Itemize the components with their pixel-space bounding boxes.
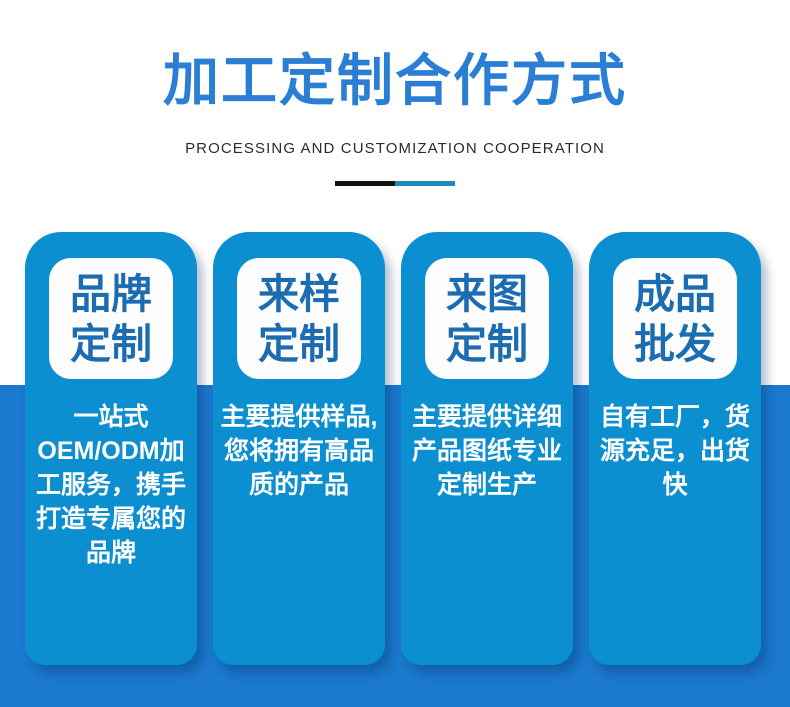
service-card[interactable]: 品牌 定制 一站式OEM/ODM加工服务，携手打造专属您的品牌: [25, 232, 197, 665]
divider-segment-left: [335, 181, 395, 186]
card-badge-line-2: 定制: [258, 319, 340, 369]
card-badge: 品牌 定制: [49, 258, 173, 379]
card-badge: 来样 定制: [237, 258, 361, 379]
service-card[interactable]: 来图 定制 主要提供详细产品图纸专业定制生产: [401, 232, 573, 665]
page-title: 加工定制合作方式: [0, 48, 790, 114]
divider-segment-right: [395, 181, 455, 186]
service-card[interactable]: 来样 定制 主要提供样品,您将拥有高品质的产品: [213, 232, 385, 665]
card-badge: 来图 定制: [425, 258, 549, 379]
title-divider: [335, 181, 455, 186]
card-body-text: 自有工厂，货源充足，出货快: [593, 400, 757, 502]
card-body-text: 一站式OEM/ODM加工服务，携手打造专属您的品牌: [29, 400, 193, 570]
service-card[interactable]: 成品 批发 自有工厂，货源充足，出货快: [589, 232, 761, 665]
page-subtitle: PROCESSING AND CUSTOMIZATION COOPERATION: [0, 139, 790, 159]
card-badge-line-2: 定制: [446, 319, 528, 369]
promo-banner: 加工定制合作方式 PROCESSING AND CUSTOMIZATION CO…: [0, 0, 790, 707]
card-badge-line-2: 定制: [70, 319, 152, 369]
card-badge-line-1: 品牌: [70, 269, 152, 319]
card-badge-line-2: 批发: [634, 319, 716, 369]
card-badge-line-1: 成品: [634, 269, 716, 319]
card-badge-line-1: 来图: [446, 269, 528, 319]
card-body-text: 主要提供样品,您将拥有高品质的产品: [217, 400, 381, 502]
card-badge-line-1: 来样: [258, 269, 340, 319]
banner-header: 加工定制合作方式 PROCESSING AND CUSTOMIZATION CO…: [0, 0, 790, 232]
card-badge: 成品 批发: [613, 258, 737, 379]
card-body-text: 主要提供详细产品图纸专业定制生产: [405, 400, 569, 502]
